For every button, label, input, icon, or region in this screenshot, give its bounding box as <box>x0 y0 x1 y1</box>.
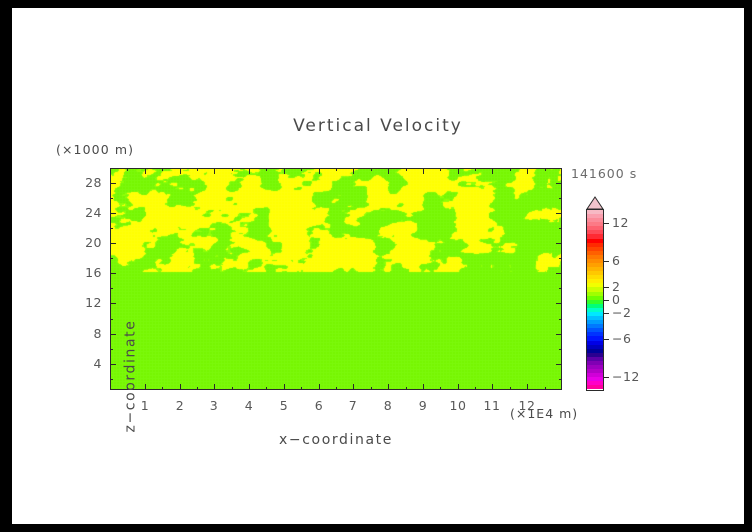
axis-tick-mark <box>214 384 215 390</box>
axis-tick-mark <box>559 288 562 289</box>
axis-tick-mark <box>110 349 113 350</box>
x-tick-label: 5 <box>269 398 299 413</box>
axis-tick-mark <box>510 168 511 171</box>
axis-tick-mark <box>110 228 113 229</box>
axis-tick-mark <box>197 168 198 171</box>
colorbar-tick-label: −2 <box>612 305 631 320</box>
y-axis-unit-label: (×1000 m) <box>56 142 134 157</box>
axis-tick-mark <box>110 183 116 184</box>
axis-tick-mark <box>475 387 476 390</box>
axis-tick-mark <box>559 228 562 229</box>
x-tick-label: 10 <box>443 398 473 413</box>
axis-tick-mark <box>110 288 113 289</box>
page-title: Vertical Velocity <box>12 116 744 136</box>
x-tick-label: 3 <box>199 398 229 413</box>
axis-tick-mark <box>510 387 511 390</box>
x-tick-label: 4 <box>234 398 264 413</box>
axis-tick-mark <box>559 258 562 259</box>
axis-tick-mark <box>556 334 562 335</box>
time-stamp-label: 141600 s <box>571 166 637 181</box>
axis-tick-mark <box>559 319 562 320</box>
axis-tick-mark <box>145 384 146 390</box>
y-tick-label: 12 <box>72 295 102 310</box>
colorbar-tick-mark <box>604 377 609 378</box>
figure-frame: Vertical Velocity (×1000 m) 141600 s z−c… <box>0 0 752 532</box>
x-tick-label: 11 <box>477 398 507 413</box>
axis-tick-mark <box>110 258 113 259</box>
colorbar-tick-mark <box>604 313 609 314</box>
axis-tick-mark <box>232 168 233 171</box>
axis-tick-mark <box>249 384 250 390</box>
axis-tick-mark <box>336 168 337 171</box>
axis-tick-mark <box>110 319 113 320</box>
x-tick-label: 8 <box>373 398 403 413</box>
axis-tick-mark <box>127 168 128 171</box>
colorbar-tick-mark <box>604 339 609 340</box>
colorbar-tick-mark <box>604 223 609 224</box>
axis-tick-mark <box>284 384 285 390</box>
axis-tick-mark <box>440 168 441 171</box>
axis-tick-mark <box>110 243 116 244</box>
x-axis-unit-label: (×1E4 m) <box>510 406 578 421</box>
colorbar-tick-label: 12 <box>612 215 629 230</box>
colorbar-tick-label: −6 <box>612 331 631 346</box>
x-tick-label: 6 <box>304 398 334 413</box>
axis-tick-mark <box>180 384 181 390</box>
axis-tick-mark <box>388 168 389 174</box>
axis-tick-mark <box>301 168 302 171</box>
axis-tick-mark <box>556 213 562 214</box>
axis-tick-mark <box>336 387 337 390</box>
axis-tick-mark <box>110 273 116 274</box>
axis-tick-mark <box>556 303 562 304</box>
x-tick-label: 7 <box>338 398 368 413</box>
axis-tick-mark <box>197 387 198 390</box>
y-tick-label: 20 <box>72 235 102 250</box>
axis-tick-mark <box>110 334 116 335</box>
axis-tick-mark <box>527 384 528 390</box>
y-tick-label: 8 <box>72 326 102 341</box>
axis-tick-mark <box>545 168 546 171</box>
axis-tick-mark <box>559 349 562 350</box>
axis-tick-mark <box>249 168 250 174</box>
colorbar-arrow-cap-icon <box>586 196 604 210</box>
colorbar-tick-mark <box>604 261 609 262</box>
x-tick-label: 2 <box>165 398 195 413</box>
colorbar-tick-mark <box>604 287 609 288</box>
axis-tick-mark <box>110 379 113 380</box>
axis-tick-mark <box>371 168 372 171</box>
axis-tick-mark <box>266 168 267 171</box>
axis-tick-mark <box>388 384 389 390</box>
axis-tick-mark <box>545 387 546 390</box>
axis-tick-mark <box>319 384 320 390</box>
axis-tick-mark <box>232 387 233 390</box>
y-axis-title: z−coordinate <box>122 320 138 433</box>
axis-tick-mark <box>458 384 459 390</box>
axis-tick-mark <box>406 168 407 171</box>
y-tick-label: 24 <box>72 205 102 220</box>
colorbar-tick-label: 6 <box>612 253 620 268</box>
x-axis-title: x−coordinate <box>110 432 562 448</box>
axis-tick-mark <box>214 168 215 174</box>
axis-tick-mark <box>266 387 267 390</box>
axis-tick-mark <box>301 387 302 390</box>
axis-tick-mark <box>556 183 562 184</box>
axis-tick-mark <box>110 303 116 304</box>
axis-tick-mark <box>371 387 372 390</box>
axis-tick-mark <box>475 168 476 171</box>
plot-area: z−coordinate <box>110 168 562 390</box>
axis-tick-mark <box>180 168 181 174</box>
axis-tick-mark <box>284 168 285 174</box>
axis-tick-mark <box>559 379 562 380</box>
axis-tick-mark <box>353 168 354 174</box>
axis-tick-mark <box>423 384 424 390</box>
y-tick-label: 16 <box>72 265 102 280</box>
axis-tick-mark <box>145 168 146 174</box>
colorbar-tick-label: −12 <box>612 369 640 384</box>
axis-tick-mark <box>110 213 116 214</box>
axis-tick-mark <box>492 384 493 390</box>
axis-tick-mark <box>110 198 113 199</box>
axis-tick-mark <box>556 273 562 274</box>
axis-tick-mark <box>406 387 407 390</box>
axis-tick-mark <box>353 384 354 390</box>
axis-tick-mark <box>162 387 163 390</box>
axis-tick-mark <box>458 168 459 174</box>
y-tick-label: 28 <box>72 175 102 190</box>
figure-canvas: Vertical Velocity (×1000 m) 141600 s z−c… <box>12 8 744 524</box>
axis-tick-mark <box>162 168 163 171</box>
heatmap-field <box>110 168 562 390</box>
axis-tick-mark <box>440 387 441 390</box>
axis-tick-mark <box>423 168 424 174</box>
axis-tick-mark <box>556 243 562 244</box>
x-tick-label: 1 <box>130 398 160 413</box>
colorbar: 12620−2−6−12 <box>586 196 676 392</box>
axis-tick-mark <box>492 168 493 174</box>
x-tick-label: 9 <box>408 398 438 413</box>
y-tick-label: 4 <box>72 356 102 371</box>
axis-tick-mark <box>110 364 116 365</box>
axis-tick-mark <box>527 168 528 174</box>
axis-tick-mark <box>319 168 320 174</box>
colorbar-outline <box>586 209 604 391</box>
colorbar-tick-mark <box>604 300 609 301</box>
axis-tick-mark <box>559 198 562 199</box>
axis-tick-mark <box>556 364 562 365</box>
